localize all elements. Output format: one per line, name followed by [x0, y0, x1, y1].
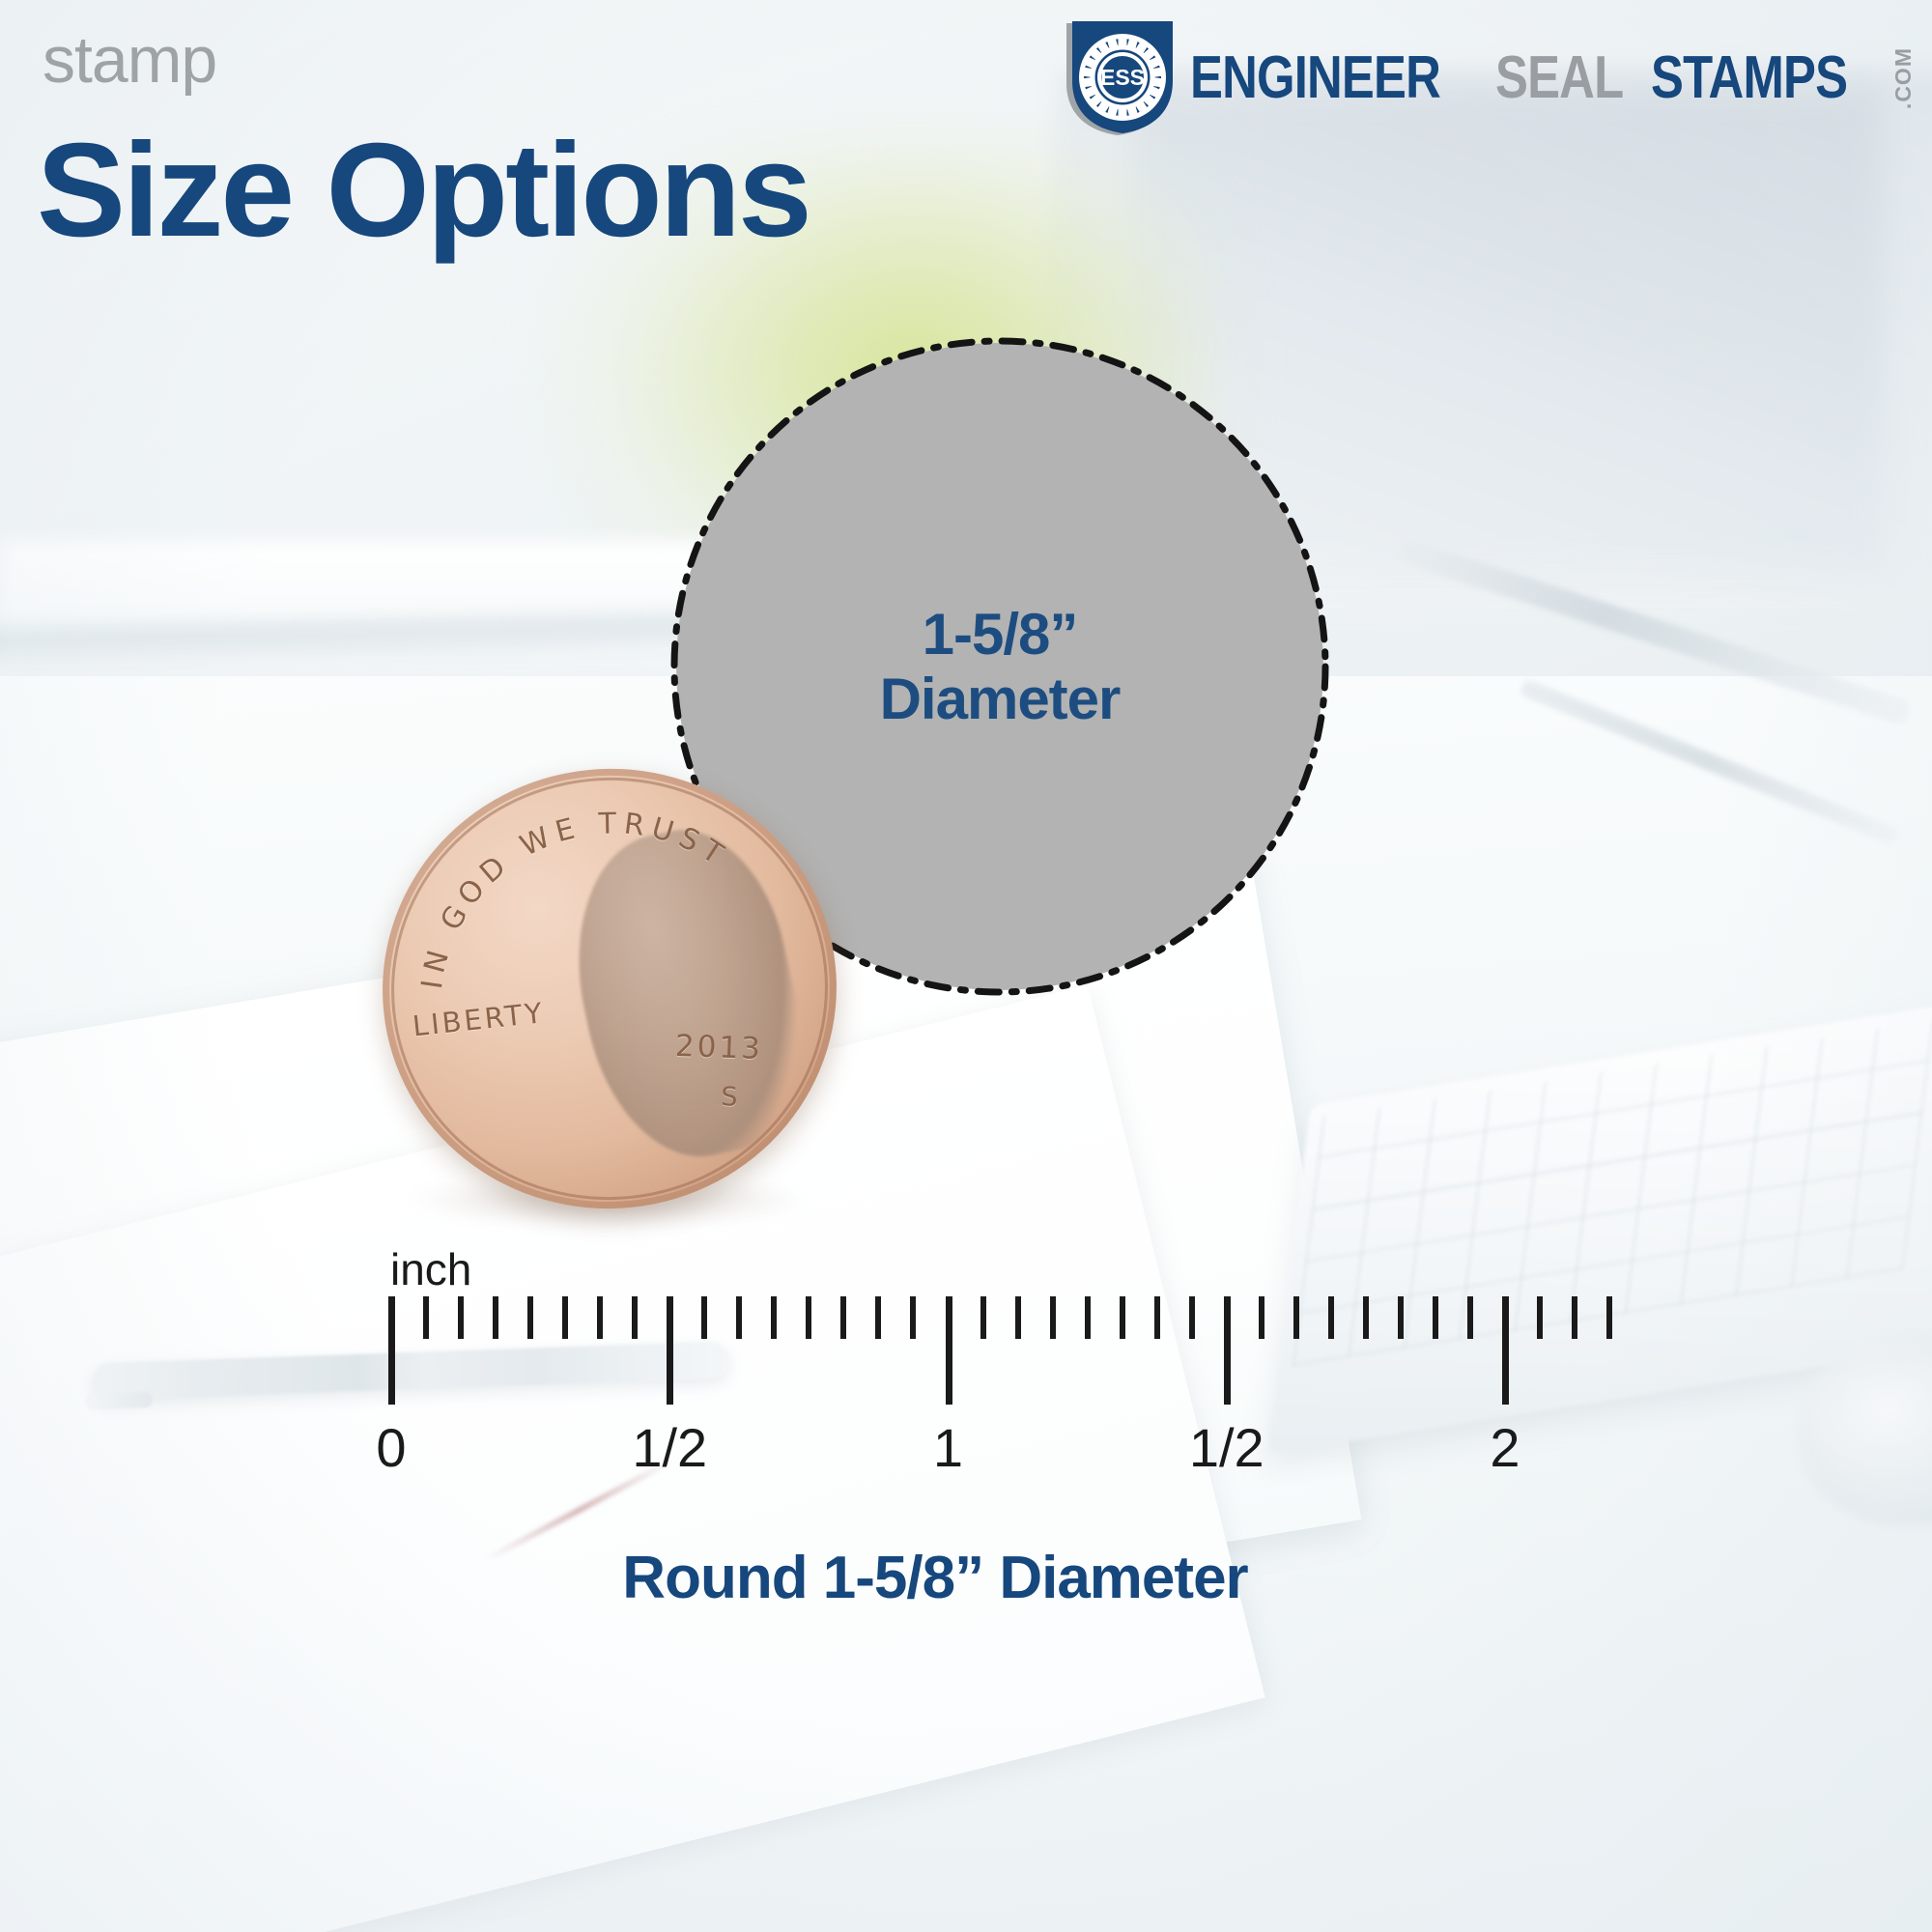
- size-options-graphic: stamp Size Options ESS: [0, 0, 1932, 1932]
- brand-logo[interactable]: ESS ENGINEER SEAL STAMPS .COM: [1057, 17, 1915, 139]
- ruler-tick-minor: [1572, 1296, 1577, 1339]
- ruler-tick-minor: [1085, 1296, 1091, 1339]
- svg-text:IN GOD WE TRUST: IN GOD WE TRUST: [399, 794, 747, 995]
- ruler-tick-minor: [980, 1296, 986, 1339]
- size-label-line2: Diameter: [676, 667, 1323, 731]
- penny-year-text: 2013: [674, 1029, 763, 1066]
- ruler-tick-major: [946, 1296, 952, 1405]
- logo-word-dotcom: .COM: [1892, 47, 1915, 109]
- ruler-tick-minor: [1398, 1296, 1404, 1339]
- ruler-tick-minor: [632, 1296, 638, 1339]
- penny-face: IN GOD WE TRUST LIBERTY 2013 S: [361, 747, 859, 1232]
- ruler-tick-minor: [1050, 1296, 1056, 1339]
- ruler-tick-minor: [423, 1296, 429, 1339]
- ruler-tick-minor: [1433, 1296, 1438, 1339]
- ruler-tick-minor: [736, 1296, 742, 1339]
- ruler-tick-major: [1224, 1296, 1231, 1405]
- logo-word-engineer: ENGINEER: [1190, 48, 1440, 108]
- ruler-tick-minor: [562, 1296, 568, 1339]
- penny-motto: IN GOD WE TRUST: [361, 747, 859, 1232]
- ruler-label: 1/2: [632, 1416, 707, 1479]
- penny-mint-mark: S: [721, 1082, 741, 1113]
- ruler-tick-minor: [1328, 1296, 1334, 1339]
- ruler-label: 0: [376, 1416, 406, 1479]
- ruler-tick-minor: [1259, 1296, 1264, 1339]
- ruler-tick-major: [667, 1296, 673, 1405]
- ruler-label: 1: [933, 1416, 963, 1479]
- ruler-tick-minor: [840, 1296, 846, 1339]
- ruler-tick-major: [1502, 1296, 1509, 1405]
- size-label-line1: 1-5/8”: [923, 602, 1078, 667]
- ruler-tick-minor: [910, 1296, 916, 1339]
- size-caption: Round 1-5/8” Diameter: [0, 1544, 1932, 1612]
- ruler-unit-label: inch: [390, 1243, 471, 1295]
- ruler-tick-minor: [1293, 1296, 1299, 1339]
- reference-penny: IN GOD WE TRUST LIBERTY 2013 S: [383, 769, 837, 1208]
- ruler-tick-minor: [875, 1296, 881, 1339]
- ruler-label: 2: [1490, 1416, 1520, 1479]
- ruler-tick-minor: [1154, 1296, 1160, 1339]
- page-title: Size Options: [37, 124, 810, 257]
- size-preview-label: 1-5/8” Diameter: [676, 602, 1323, 731]
- ruler-tick-minor: [1467, 1296, 1473, 1339]
- logo-word-stamps: STAMPS: [1651, 48, 1847, 108]
- brand-subtitle: stamp: [43, 27, 216, 93]
- ruler-tick-minor: [806, 1296, 811, 1339]
- ruler-tick-major: [388, 1296, 395, 1405]
- ruler-tick-minor: [1015, 1296, 1021, 1339]
- size-caption-text: Round 1-5/8” Diameter: [622, 1544, 1247, 1612]
- ruler-label: 1/2: [1189, 1416, 1264, 1479]
- ruler-tick-minor: [493, 1296, 498, 1339]
- ruler-tick-minor: [597, 1296, 603, 1339]
- logo-mark-text: ESS: [1100, 65, 1145, 90]
- ruler-tick-minor: [527, 1296, 533, 1339]
- ruler-tick-minor: [701, 1296, 707, 1339]
- ruler-tick-minor: [1120, 1296, 1125, 1339]
- ruler-tick-minor: [1606, 1296, 1612, 1339]
- inch-ruler: inch 01/211/22: [0, 1246, 1932, 1497]
- ruler-tick-minor: [1363, 1296, 1369, 1339]
- ruler-tick-minor: [771, 1296, 777, 1339]
- logo-wordmark: ENGINEER SEAL STAMPS .COM: [1190, 47, 1915, 109]
- ess-shield-gear-icon: ESS: [1057, 17, 1179, 139]
- ruler-tick-minor: [1537, 1296, 1543, 1339]
- ruler-tick-minor: [458, 1296, 464, 1339]
- logo-word-seal: SEAL: [1495, 48, 1623, 108]
- ruler-tick-minor: [1189, 1296, 1195, 1339]
